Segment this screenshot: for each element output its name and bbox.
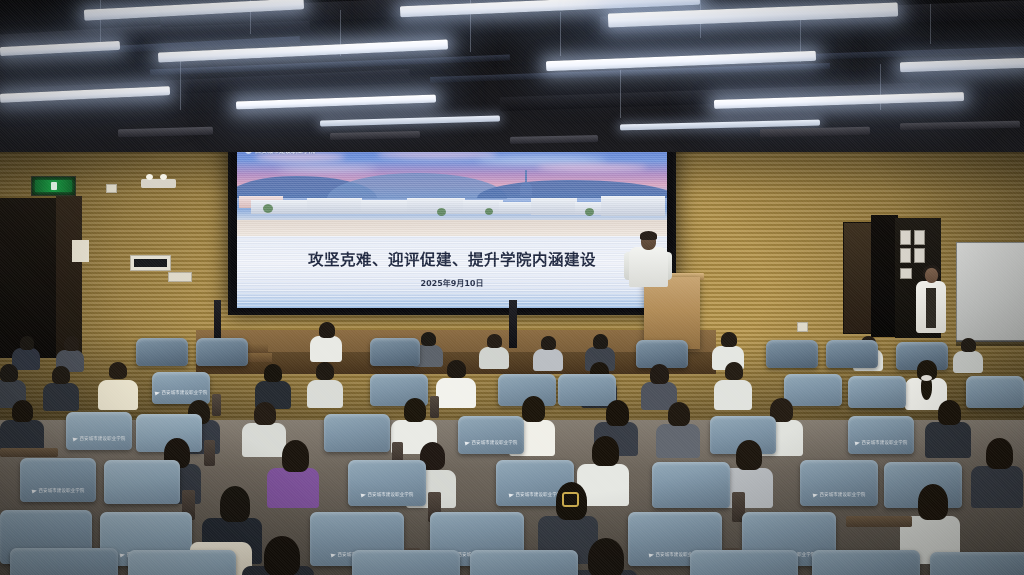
- seat[interactable]: [690, 550, 798, 575]
- ceiling-light-7: [900, 58, 1024, 73]
- rack-card-4: [914, 248, 925, 263]
- seat[interactable]: [352, 550, 460, 575]
- emergency-lamp-right-icon: [160, 174, 167, 180]
- ac-vent: [130, 255, 171, 271]
- rack-card-2: [914, 230, 925, 245]
- emergency-lamp-left-icon: [146, 174, 153, 180]
- slide-text-area: 攻坚克难、迎评促建、提升学院内涵建设 2025年9月10日: [237, 236, 667, 308]
- right-door[interactable]: [843, 222, 873, 334]
- exit-sign: [31, 176, 76, 196]
- rack-card-3: [900, 248, 911, 263]
- speaker-torso: [629, 247, 668, 287]
- slide-date: 2025年9月10日: [237, 278, 667, 289]
- seat-row-2: 西安城市建设职业学院 西安城市建设职业学院 西安城市建设职业学院 西安城市建设职…: [0, 486, 1024, 548]
- emergency-light-unit: [141, 179, 176, 188]
- door-notice-paper: [72, 240, 89, 262]
- projection-screen-frame: 攻坚克难、迎评促建、提升学院内涵建设 2025年9月10日 西安城市建设职业学院: [228, 137, 676, 315]
- seat-row-front: [0, 540, 1024, 575]
- folding-desk[interactable]: [846, 516, 912, 527]
- exit-sign-panel: [35, 180, 72, 192]
- seat[interactable]: [10, 548, 118, 575]
- light-housing-5: [900, 121, 1020, 131]
- whiteboard: [956, 242, 1024, 342]
- seat[interactable]: [812, 550, 920, 575]
- hair-clip: [562, 492, 579, 507]
- seat[interactable]: [128, 550, 236, 575]
- right-door-open-leaf[interactable]: [871, 215, 898, 337]
- ceiling: [0, 0, 1024, 152]
- projection-screen: 攻坚克难、迎评促建、提升学院内涵建设 2025年9月10日 西安城市建设职业学院: [237, 144, 667, 308]
- wall-control-plate[interactable]: [168, 272, 192, 282]
- hair-scrunchie: [921, 375, 932, 381]
- ceiling-light-9: [236, 95, 436, 110]
- seat-row-5: 西安城市建设职业学院: [0, 358, 1024, 398]
- seat-row-4: 西安城市建设职业学院 西安城市建设职业学院 西安城市建设职业学院: [0, 396, 1024, 442]
- slide-title: 攻坚克难、迎评促建、提升学院内涵建设: [237, 248, 667, 270]
- light-housing-4: [760, 127, 870, 138]
- light-housing-2: [330, 131, 420, 140]
- speaker-hair: [640, 231, 657, 240]
- light-housing-3: [510, 135, 598, 144]
- seat-row-3: 西安城市建设职业学院 西安城市建设职业学院 西安城市建设职业学院 西安城市建设职…: [0, 438, 1024, 492]
- running-man-icon: [51, 182, 57, 190]
- seat[interactable]: [930, 552, 1024, 575]
- light-housing-1: [118, 127, 213, 138]
- seat[interactable]: [470, 550, 578, 575]
- rack-card-1: [900, 230, 911, 245]
- auditorium-photo: 攻坚克难、迎评促建、提升学院内涵建设 2025年9月10日 西安城市建设职业学院: [0, 0, 1024, 575]
- ceiling-light-11: [320, 115, 500, 126]
- wall-socket-left[interactable]: [106, 184, 117, 193]
- slide-campus-photo: [237, 148, 667, 236]
- rack-card-5: [900, 268, 912, 279]
- audience-seating: 西安城市建设职业学院: [0, 330, 1024, 575]
